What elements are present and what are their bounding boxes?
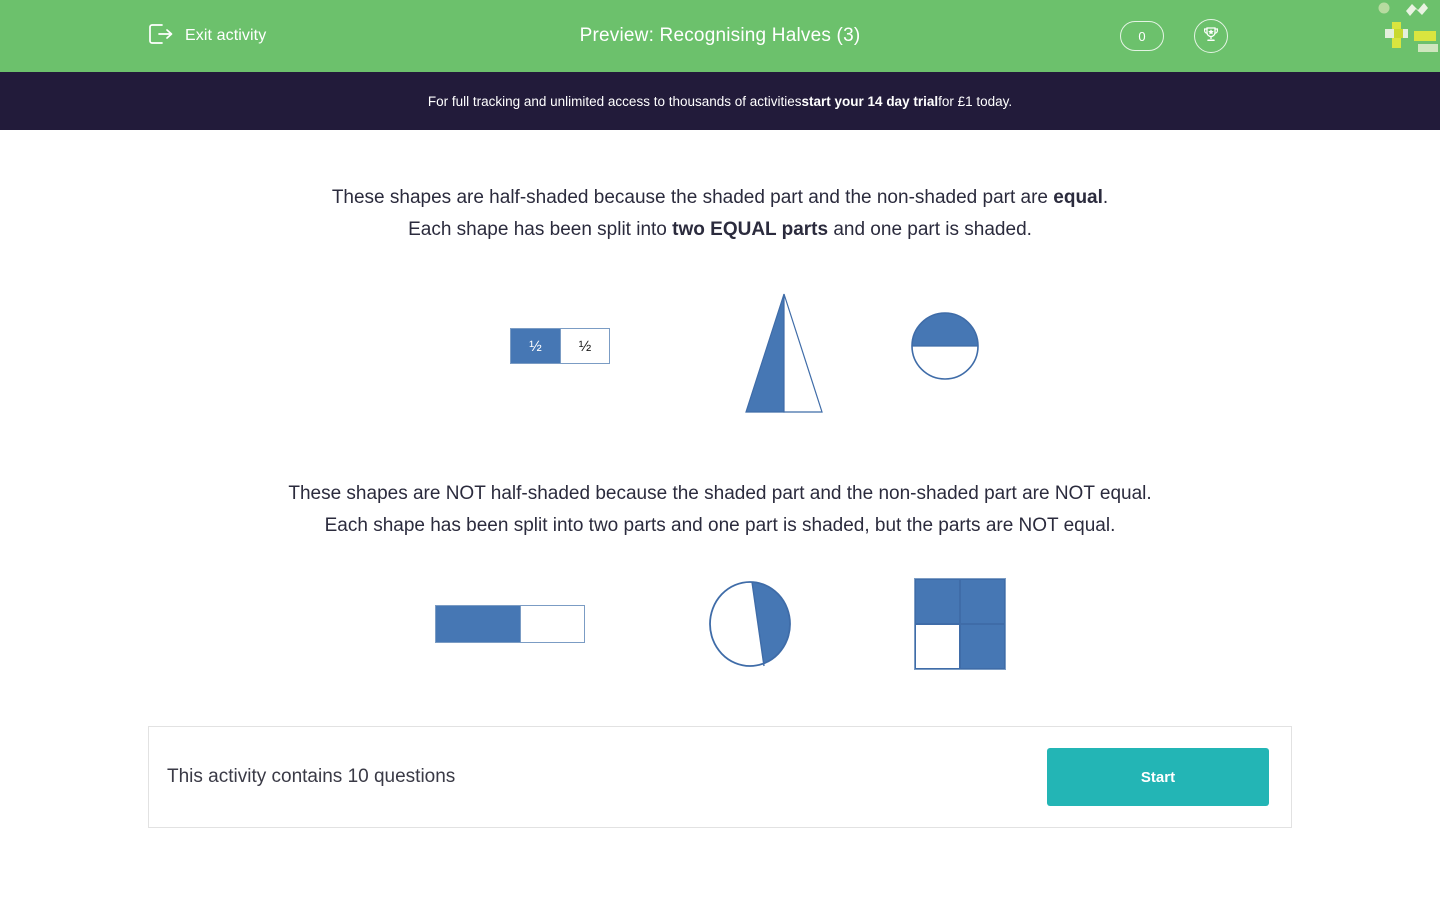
equal-line1-bold: equal [1053, 187, 1103, 208]
half-bar-unshaded-cell: ½ [560, 329, 609, 363]
trophy-icon [1201, 24, 1221, 49]
circle-unequal-svg [708, 580, 792, 668]
equal-explanation: These shapes are half-shaded because the… [0, 182, 1440, 246]
unequal-explanation-line-2: Each shape has been split into two parts… [0, 510, 1440, 542]
header-actions: 0 [1120, 19, 1228, 53]
shape-half-bar-with-fractions: ½ ½ [415, 276, 705, 416]
quarters-grid [914, 578, 1006, 670]
grid-cell-top-right [960, 579, 1005, 624]
brand-logo-mark [1376, 0, 1440, 56]
score-badge[interactable]: 0 [1120, 21, 1164, 51]
shape-half-shaded-triangle [705, 292, 865, 416]
unequal-shapes-row [0, 576, 1440, 672]
promo-text-before: For full tracking and unlimited access t… [428, 94, 802, 109]
start-panel: This activity contains 10 questions Star… [148, 726, 1292, 828]
circle-half-svg [910, 311, 980, 381]
equal-explanation-line-1: These shapes are half-shaded because the… [0, 182, 1440, 214]
promo-banner[interactable]: For full tracking and unlimited access t… [0, 72, 1440, 130]
unequal-bar-unshaded-part [520, 606, 584, 642]
start-button[interactable]: Start [1047, 748, 1269, 806]
grid-cell-bottom-right [960, 624, 1005, 669]
main-content: These shapes are half-shaded because the… [0, 130, 1440, 828]
grid-cell-bottom-left [915, 624, 960, 669]
shape-three-quarter-grid [860, 576, 1060, 672]
triangle-svg [744, 292, 826, 416]
unequal-explanation-line-1: These shapes are NOT half-shaded because… [0, 478, 1440, 510]
question-count-label: This activity contains 10 questions [167, 766, 455, 788]
equal-line1-before: These shapes are half-shaded because the… [332, 187, 1053, 208]
equal-line2-bold: two EQUAL parts [672, 219, 828, 240]
unequal-explanation: These shapes are NOT half-shaded because… [0, 478, 1440, 542]
promo-text-after: for £1 today. [938, 94, 1012, 109]
half-bar: ½ ½ [510, 328, 610, 364]
half-bar-shaded-cell: ½ [511, 329, 560, 363]
equal-shapes-row: ½ ½ [0, 276, 1440, 416]
trophy-button[interactable] [1194, 19, 1228, 53]
equal-explanation-line-2: Each shape has been split into two EQUAL… [0, 214, 1440, 246]
app-header: Exit activity Preview: Recognising Halve… [0, 0, 1440, 72]
unequal-bar [435, 605, 585, 643]
promo-text-bold: start your 14 day trial [802, 94, 939, 109]
equal-line2-after: and one part is shaded. [828, 219, 1032, 240]
shape-half-shaded-circle [865, 276, 1025, 416]
shape-unequal-bar [380, 576, 640, 672]
shape-unequal-circle [640, 576, 860, 672]
unequal-bar-shaded-part [436, 606, 520, 642]
score-value: 0 [1138, 29, 1145, 44]
grid-cell-top-left [915, 579, 960, 624]
equal-line2-before: Each shape has been split into [408, 219, 672, 240]
equal-line1-after: . [1103, 187, 1108, 208]
